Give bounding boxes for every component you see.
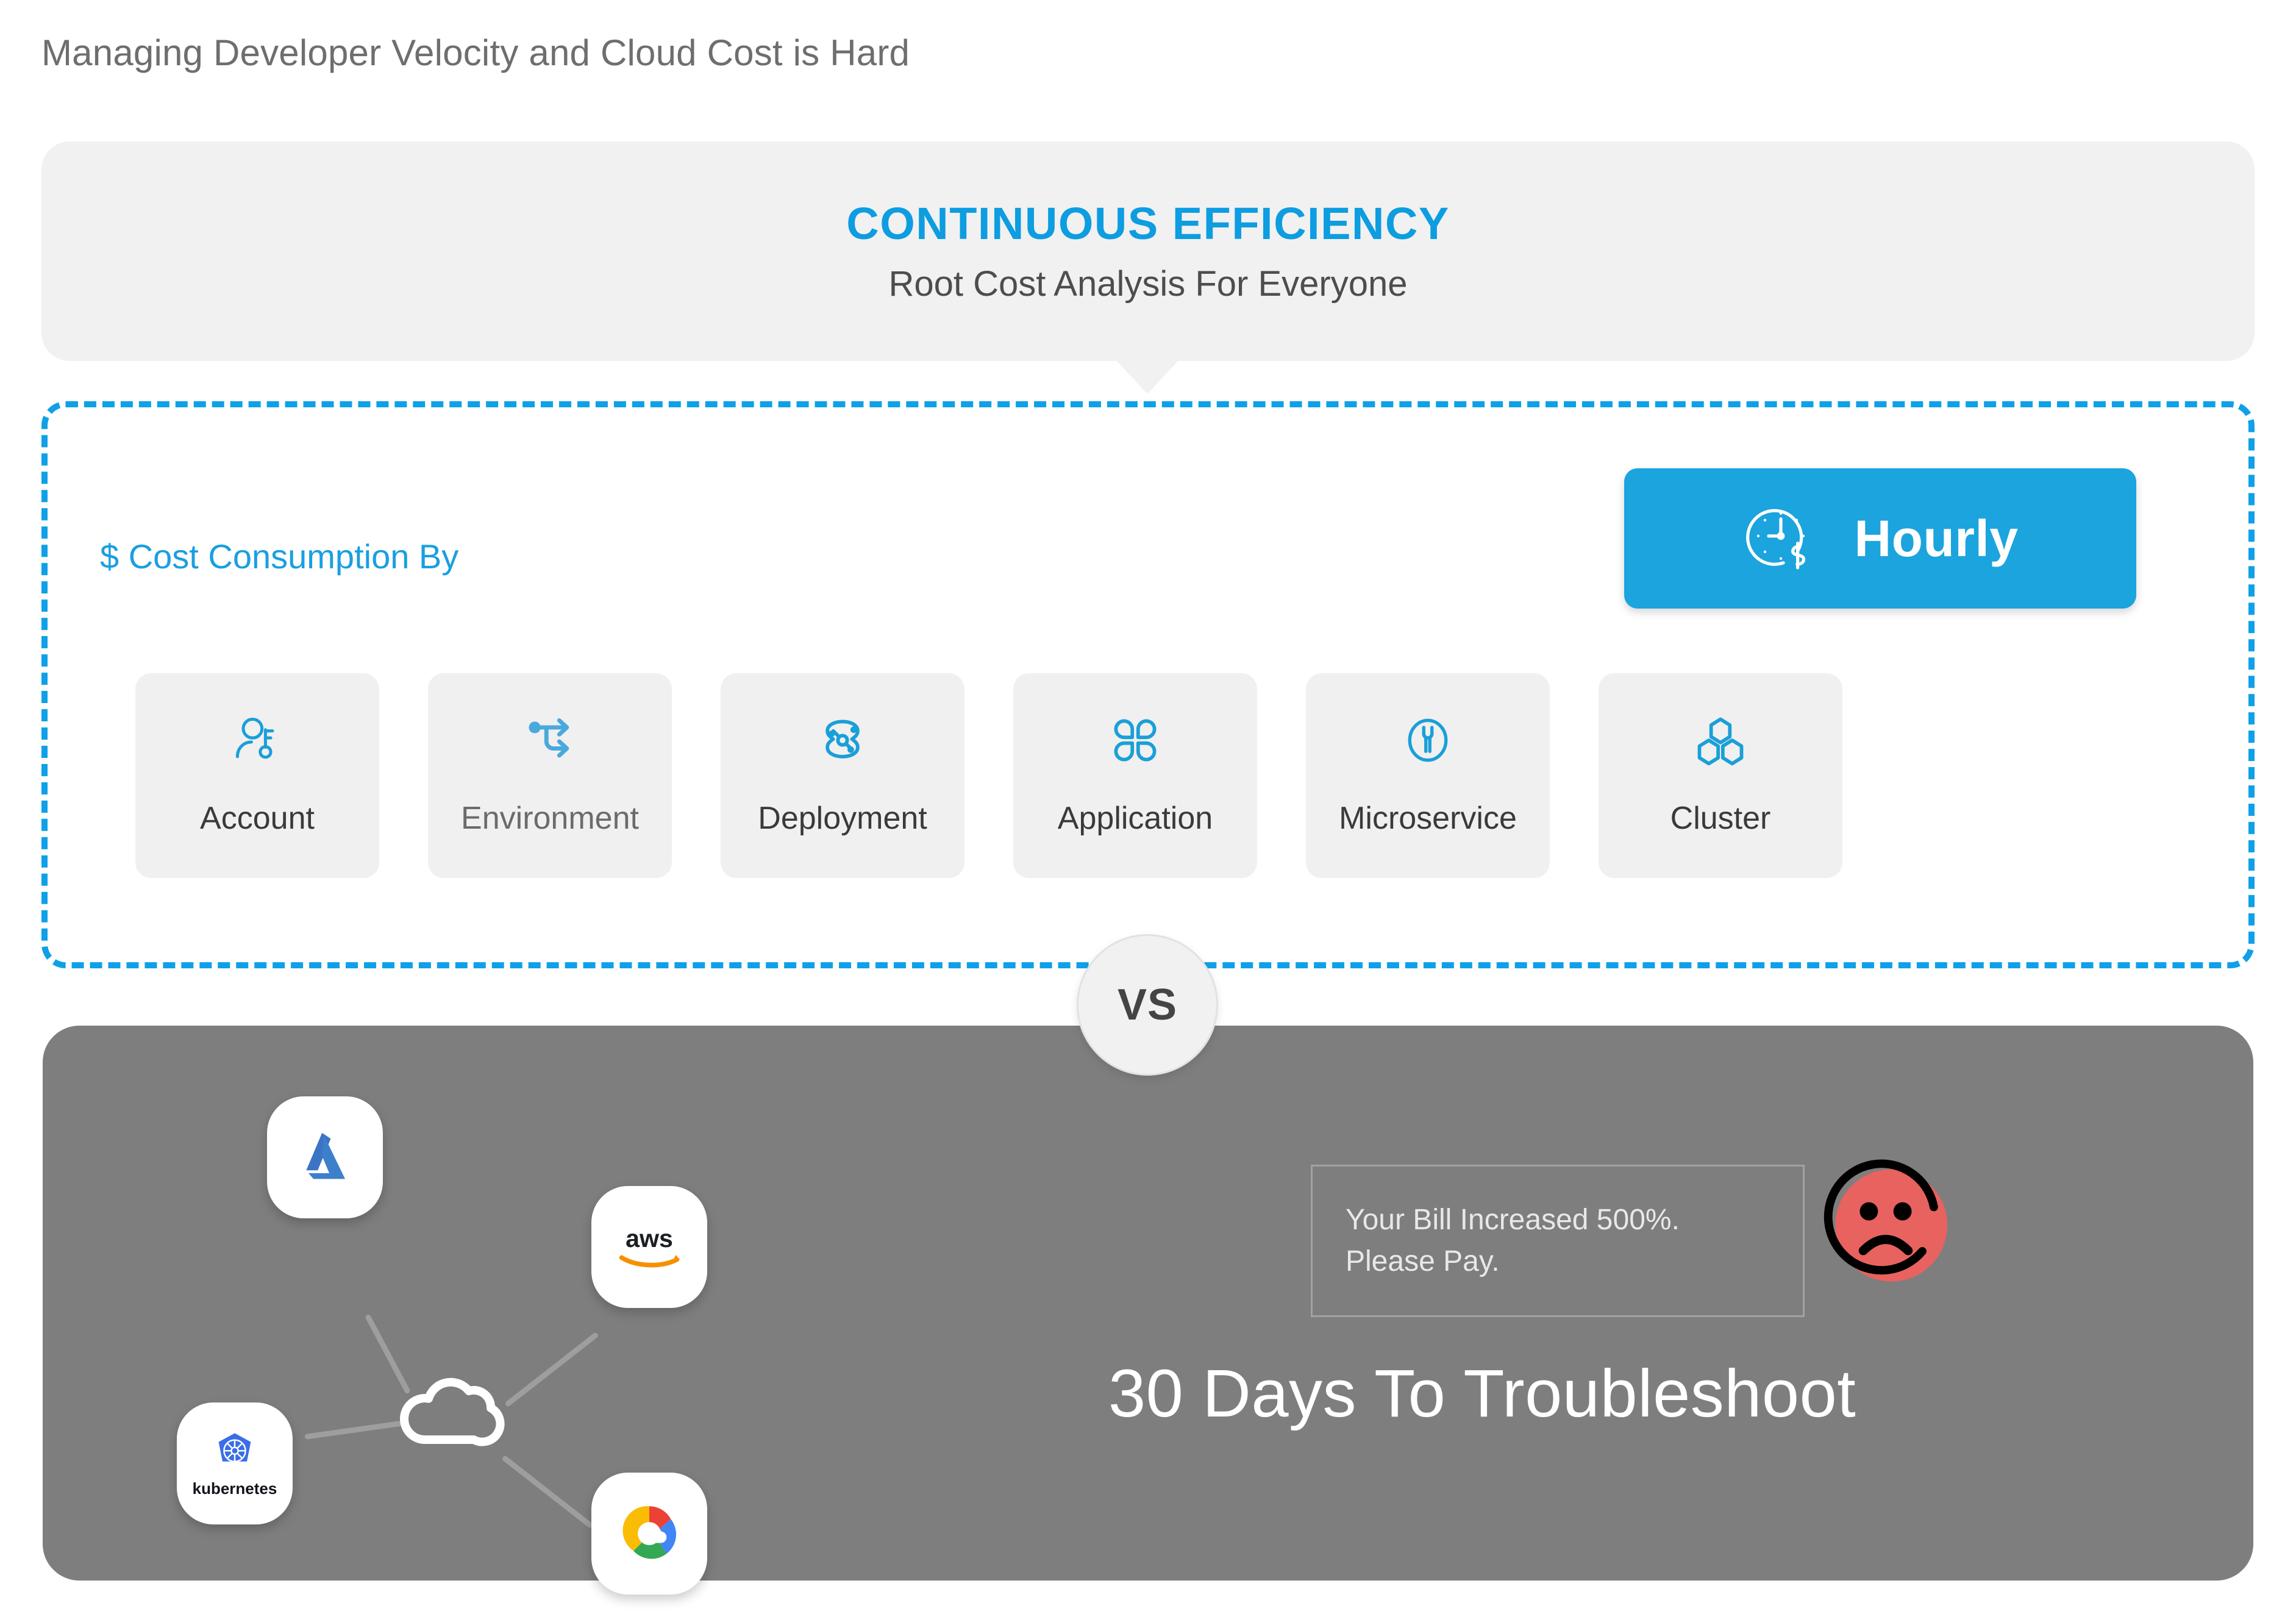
four-petal-grid-icon — [1106, 711, 1164, 770]
wrench-circle-icon — [1399, 711, 1457, 770]
category-label: Environment — [461, 800, 639, 837]
category-label: Microservice — [1339, 800, 1517, 837]
category-label: Account — [200, 800, 315, 837]
category-card-account[interactable]: Account — [135, 673, 379, 878]
kubernetes-logo — [210, 1429, 259, 1478]
person-key-icon — [228, 711, 287, 770]
page-title: Managing Developer Velocity and Cloud Co… — [41, 32, 910, 74]
bill-notice-line-1: Your Bill Increased 500%. — [1346, 1199, 1803, 1241]
clock-dollar-icon — [1742, 499, 1820, 577]
azure-logo — [289, 1121, 361, 1193]
hourly-button[interactable]: Hourly — [1624, 468, 2136, 609]
continuous-efficiency-banner: CONTINUOUS EFFICIENCY Root Cost Analysis… — [41, 141, 2255, 361]
provider-tile-azure — [267, 1096, 383, 1218]
infographic-page: Managing Developer Velocity and Cloud Co… — [0, 0, 2296, 1622]
sad-face-icon — [1816, 1152, 1956, 1293]
aws-logo: aws — [610, 1220, 689, 1274]
kubernetes-wordmark: kubernetes — [193, 1479, 277, 1498]
provider-tile-kubernetes: kubernetes — [177, 1402, 293, 1524]
category-card-microservice[interactable]: Microservice — [1306, 673, 1550, 878]
vs-label: VS — [1118, 980, 1177, 1030]
bill-notice-box: Your Bill Increased 500%. Please Pay. — [1311, 1165, 1805, 1317]
banner-pointer-triangle — [1114, 359, 1180, 394]
category-card-environment[interactable]: Environment — [428, 673, 672, 878]
category-card-row: Account Environment — [135, 673, 2159, 878]
connector-line-kubernetes — [304, 1421, 402, 1440]
banner-title: CONTINUOUS EFFICIENCY — [846, 198, 1449, 249]
google-cloud-logo — [613, 1498, 685, 1570]
hourly-button-label: Hourly — [1854, 509, 2018, 568]
category-card-deployment[interactable]: Deployment — [721, 673, 964, 878]
banner-subtitle: Root Cost Analysis For Everyone — [888, 264, 1407, 305]
connector-line-aws — [504, 1332, 599, 1407]
category-card-cluster[interactable]: Cluster — [1599, 673, 1842, 878]
vs-badge: VS — [1077, 934, 1218, 1076]
category-label: Application — [1058, 800, 1213, 837]
cost-consumption-label: $ Cost Consumption By — [100, 537, 458, 576]
cloud-icon — [393, 1357, 515, 1454]
svg-text:aws: aws — [626, 1224, 673, 1252]
bill-notice-line-2: Please Pay. — [1346, 1241, 1803, 1282]
hexagons-icon — [1691, 711, 1750, 770]
provider-tile-google-cloud — [591, 1473, 707, 1595]
branch-arrows-icon — [521, 711, 579, 770]
category-label: Cluster — [1670, 800, 1771, 837]
category-card-application[interactable]: Application — [1013, 673, 1257, 878]
category-label: Deployment — [758, 800, 927, 837]
atom-icon — [813, 711, 872, 770]
troubleshoot-headline: 30 Days To Troubleshoot — [1108, 1355, 1856, 1432]
provider-tile-aws: aws — [591, 1186, 707, 1308]
cloud-network-diagram: aws — [152, 1073, 732, 1500]
